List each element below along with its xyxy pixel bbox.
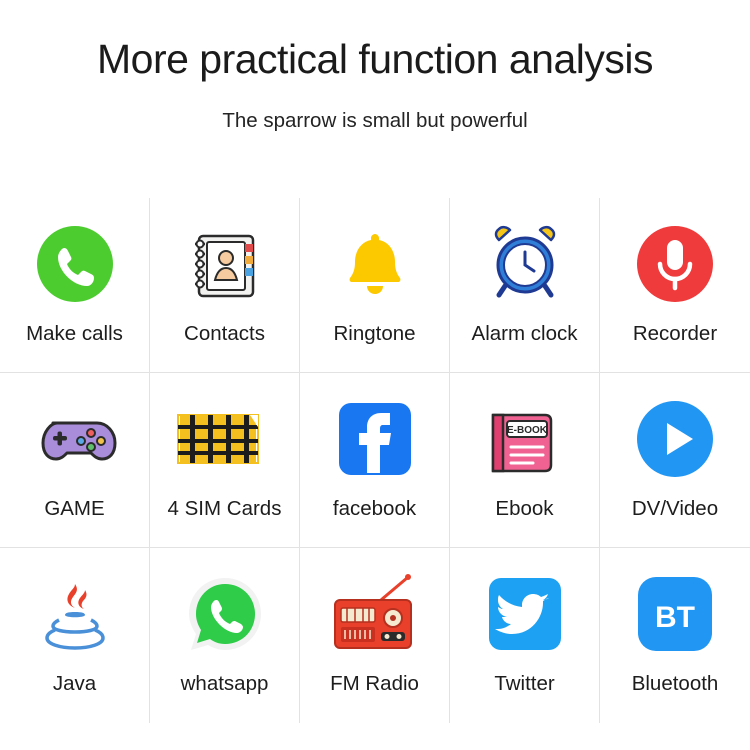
feature-cell-dv-video[interactable]: DV/Video <box>600 373 750 548</box>
feature-label: GAME <box>44 497 104 521</box>
feature-label: Ebook <box>495 497 553 521</box>
feature-label: Ringtone <box>333 322 415 346</box>
feature-cell-ringtone[interactable]: Ringtone <box>300 198 450 373</box>
feature-cell-make-calls[interactable]: Make calls <box>0 198 150 373</box>
feature-cell-java[interactable]: Java <box>0 548 150 723</box>
feature-label: Contacts <box>184 322 265 346</box>
feature-grid: Make calls <box>0 198 750 723</box>
sim-card-icon <box>170 385 280 493</box>
feature-label: Twitter <box>494 672 554 696</box>
feature-label: Alarm clock <box>472 322 578 346</box>
feature-cell-alarm-clock[interactable]: Alarm clock <box>450 198 600 373</box>
microphone-icon <box>631 210 719 318</box>
feature-cell-facebook[interactable]: facebook <box>300 373 450 548</box>
java-coffee-icon <box>31 560 119 668</box>
feature-cell-bluetooth[interactable]: BT Bluetooth <box>600 548 750 723</box>
feature-cell-twitter[interactable]: Twitter <box>450 548 600 723</box>
phone-icon <box>31 210 119 318</box>
whatsapp-icon <box>181 560 269 668</box>
bluetooth-badge-text: BT <box>655 601 695 634</box>
feature-cell-recorder[interactable]: Recorder <box>600 198 750 373</box>
page-root: More practical function analysis The spa… <box>0 0 750 750</box>
alarm-clock-icon <box>481 210 569 318</box>
contacts-book-icon <box>181 210 269 318</box>
feature-label: 4 SIM Cards <box>168 497 282 521</box>
feature-label: whatsapp <box>181 672 269 696</box>
ebook-badge-text: E-BOOK <box>507 425 548 436</box>
feature-cell-contacts[interactable]: Contacts <box>150 198 300 373</box>
page-title: More practical function analysis <box>0 0 750 82</box>
feature-label: FM Radio <box>330 672 419 696</box>
play-video-icon <box>631 385 719 493</box>
feature-label: Recorder <box>633 322 717 346</box>
bell-icon <box>331 210 419 318</box>
feature-cell-sim-cards[interactable]: 4 SIM Cards <box>150 373 300 548</box>
feature-label: facebook <box>333 497 416 521</box>
page-subtitle: The sparrow is small but powerful <box>0 82 750 133</box>
feature-label: DV/Video <box>632 497 718 521</box>
facebook-icon <box>331 385 419 493</box>
twitter-bird-icon <box>481 560 569 668</box>
feature-cell-whatsapp[interactable]: whatsapp <box>150 548 300 723</box>
bluetooth-bt-icon: BT <box>631 560 719 668</box>
ebook-icon: E-BOOK <box>477 385 573 493</box>
feature-label: Make calls <box>26 322 123 346</box>
feature-label: Bluetooth <box>632 672 719 696</box>
radio-icon <box>323 560 427 668</box>
gamepad-icon <box>29 385 121 493</box>
feature-cell-fm-radio[interactable]: FM Radio <box>300 548 450 723</box>
feature-label: Java <box>53 672 96 696</box>
feature-cell-ebook[interactable]: E-BOOK Ebook <box>450 373 600 548</box>
feature-cell-game[interactable]: GAME <box>0 373 150 548</box>
